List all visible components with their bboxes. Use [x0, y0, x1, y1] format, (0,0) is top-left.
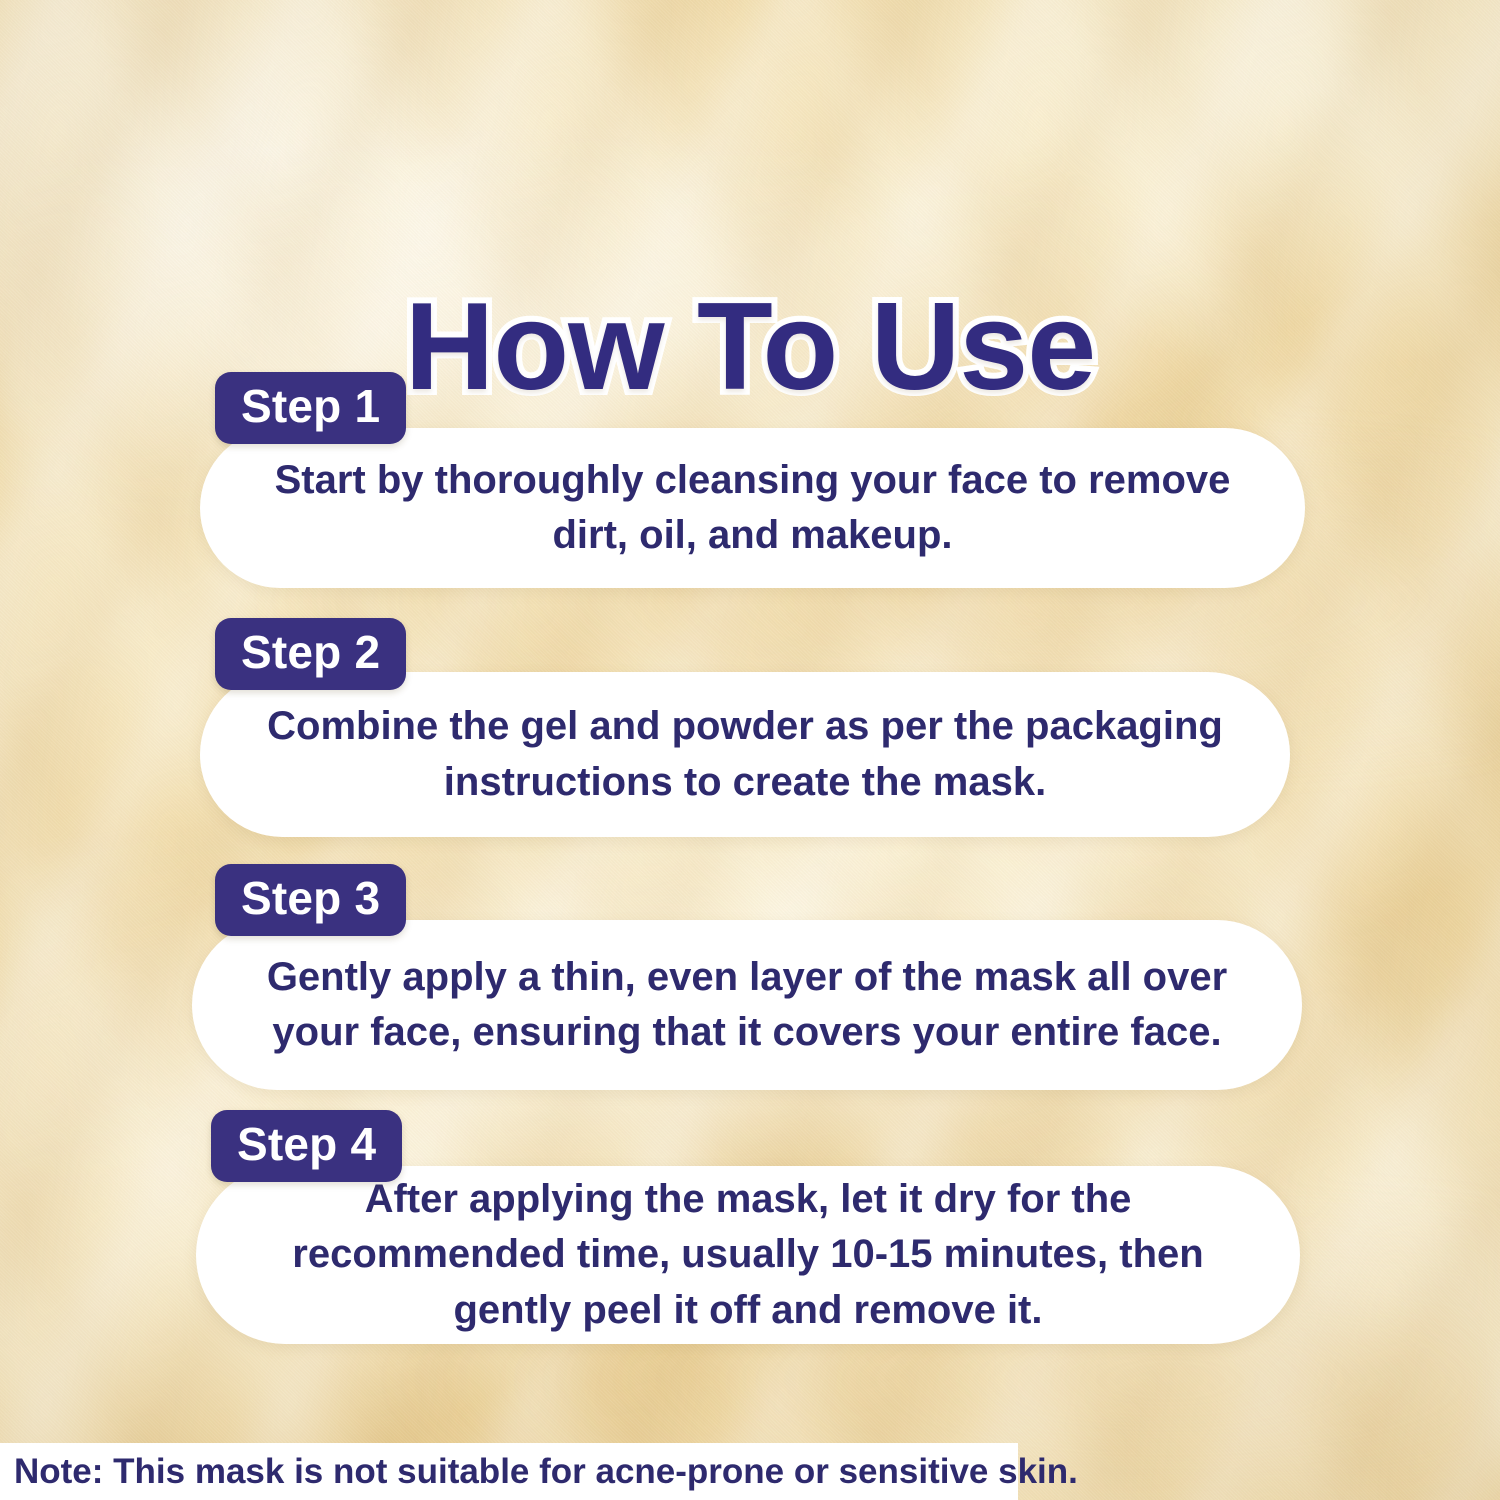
footer-note-text: Note: This mask is not suitable for acne… — [0, 1454, 1078, 1489]
step-badge-2: Step 2 — [215, 618, 406, 690]
step-text-2: Combine the gel and powder as per the pa… — [200, 699, 1290, 809]
step-text-4: After applying the mask, let it dry for … — [196, 1172, 1300, 1338]
step-text-3: Gently apply a thin, even layer of the m… — [192, 950, 1302, 1060]
infographic-canvas: How To Use Step 1 Start by thoroughly cl… — [0, 0, 1500, 1500]
step-badge-4: Step 4 — [211, 1110, 402, 1182]
step-card-4: After applying the mask, let it dry for … — [196, 1166, 1300, 1344]
step-badge-1: Step 1 — [215, 372, 406, 444]
step-text-1: Start by thoroughly cleansing your face … — [200, 453, 1305, 563]
step-badge-3: Step 3 — [215, 864, 406, 936]
step-card-3: Gently apply a thin, even layer of the m… — [192, 920, 1302, 1090]
step-card-1: Start by thoroughly cleansing your face … — [200, 428, 1305, 588]
step-card-2: Combine the gel and powder as per the pa… — [200, 672, 1290, 837]
footer-note-bar: Note: This mask is not suitable for acne… — [0, 1443, 1018, 1500]
